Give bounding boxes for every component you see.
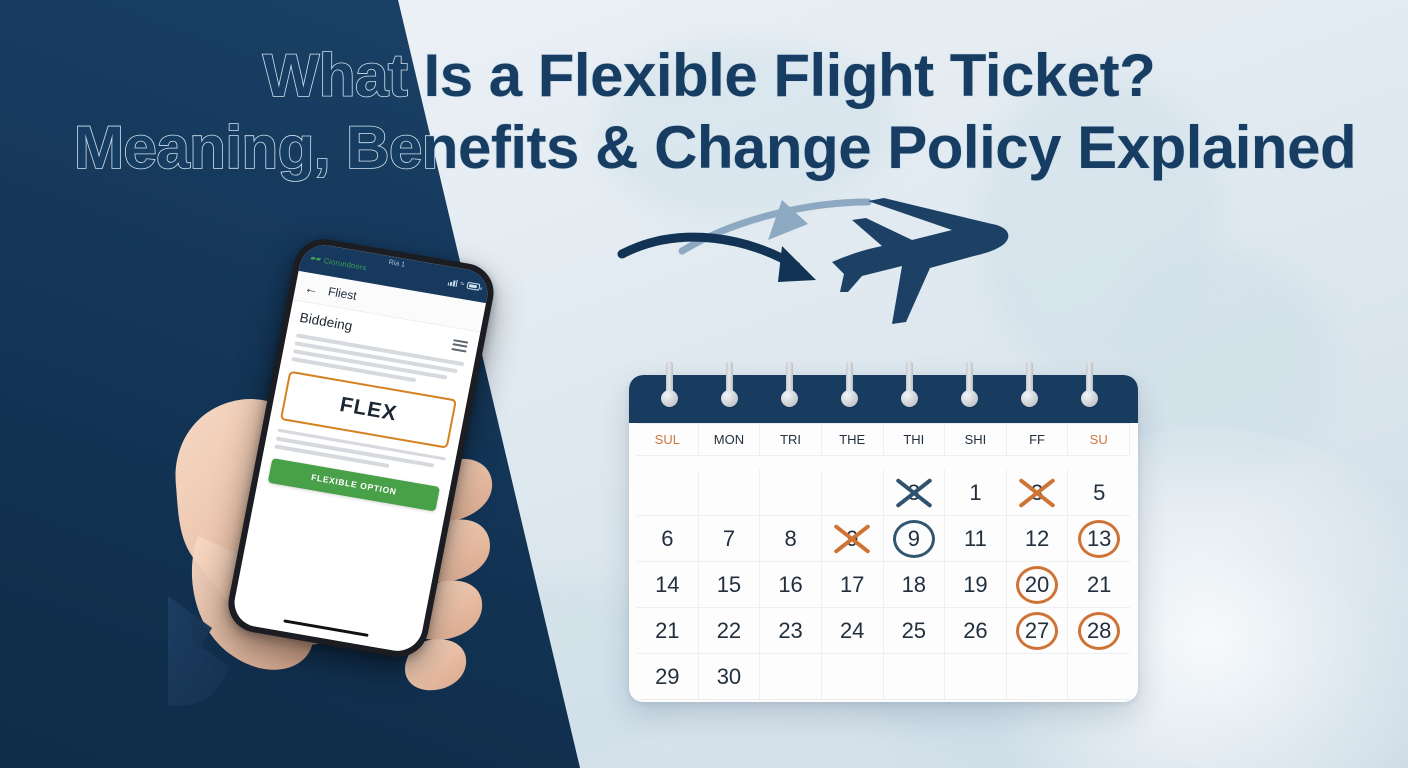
status-time: Ria 1 xyxy=(388,259,405,269)
calendar-empty-cell xyxy=(884,654,946,700)
calendar-date-number: 7 xyxy=(723,526,735,552)
battery-icon xyxy=(466,281,480,290)
calendar-date-cell[interactable]: 15 xyxy=(699,562,761,608)
airplane-graphic xyxy=(600,196,1020,326)
calendar-empty-cell xyxy=(1007,654,1069,700)
calendar-date-number: 24 xyxy=(840,618,864,644)
calendar-date-number: 20 xyxy=(1025,572,1049,598)
flexible-option-label: FLEXIBLE OPTION xyxy=(310,472,397,497)
calendar-header-bar xyxy=(629,375,1138,423)
calendar-date-number: 19 xyxy=(963,572,987,598)
calendar-date-cell[interactable]: 27 xyxy=(1007,608,1069,654)
calendar-date-cell[interactable]: 21 xyxy=(637,608,699,654)
calendar-date-number: 9 xyxy=(846,526,858,552)
phone-in-hand-illustration: ▰▰ Ciorundoors Ria 1 ≈ ← Fliest xyxy=(168,236,498,706)
calendar-date-cell[interactable]: 9 xyxy=(884,516,946,562)
signal-bars-icon: ▰▰ xyxy=(310,254,322,264)
flex-label: FLEX xyxy=(338,393,399,426)
calendar-date-number: 6 xyxy=(661,526,673,552)
airplane-icon xyxy=(832,198,1008,324)
calendar-date-cell[interactable]: 28 xyxy=(1068,608,1130,654)
calendar-date-cell[interactable]: 3 xyxy=(884,470,946,516)
headline-line-1: What Is a Flexible Flight Ticket? xyxy=(74,44,1344,108)
calendar-date-number: 22 xyxy=(717,618,741,644)
back-arrow-icon[interactable]: ← xyxy=(303,280,319,296)
calendar-date-cell[interactable]: 3 xyxy=(1007,470,1069,516)
calendar-date-cell[interactable]: 17 xyxy=(822,562,884,608)
calendar-date-cell[interactable]: 7 xyxy=(699,516,761,562)
calendar-date-number: 8 xyxy=(784,526,796,552)
calendar-date-cell[interactable]: 20 xyxy=(1007,562,1069,608)
headline-line-2: Meaning, Benefits & Change Policy Explai… xyxy=(74,116,1344,180)
calendar-date-number: 1 xyxy=(969,480,981,506)
calendar-empty-cell xyxy=(760,470,822,516)
curved-arrow-icon xyxy=(622,237,816,282)
calendar-date-number: 9 xyxy=(908,526,920,552)
calendar-date-cell[interactable]: 21 xyxy=(1068,562,1130,608)
calendar-date-number: 28 xyxy=(1087,618,1111,644)
calendar-empty-cell xyxy=(637,470,699,516)
calendar-date-number: 30 xyxy=(717,664,741,690)
calendar-date-cell[interactable]: 1 xyxy=(945,470,1007,516)
calendar-date-cell[interactable]: 8 xyxy=(760,516,822,562)
calendar-date-cell[interactable]: 13 xyxy=(1068,516,1130,562)
calendar-widget[interactable]: SULMONTRITHETHISHIFFSU313567899111213141… xyxy=(629,375,1138,702)
calendar-date-number: 27 xyxy=(1025,618,1049,644)
phone-nav-title: Fliest xyxy=(327,284,358,303)
calendar-date-cell[interactable]: 18 xyxy=(884,562,946,608)
calendar-empty-cell xyxy=(760,654,822,700)
calendar-date-cell[interactable]: 6 xyxy=(637,516,699,562)
calendar-date-number: 29 xyxy=(655,664,679,690)
calendar-date-cell[interactable]: 25 xyxy=(884,608,946,654)
calendar-day-header-the: THE xyxy=(822,424,884,456)
calendar-date-cell[interactable]: 23 xyxy=(760,608,822,654)
calendar-day-header-shi: SHI xyxy=(945,424,1007,456)
calendar-date-cell[interactable]: 29 xyxy=(637,654,699,700)
calendar-day-header-su: SU xyxy=(1068,424,1130,456)
wifi-icon: ≈ xyxy=(460,280,465,288)
calendar-day-header-ff: FF xyxy=(1007,424,1069,456)
calendar-date-cell[interactable]: 5 xyxy=(1068,470,1130,516)
calendar-date-cell[interactable]: 14 xyxy=(637,562,699,608)
calendar-date-cell[interactable]: 24 xyxy=(822,608,884,654)
calendar-empty-cell xyxy=(1068,654,1130,700)
hero-banner: What Is a Flexible Flight Ticket? Meanin… xyxy=(0,0,1408,768)
calendar-date-cell[interactable]: 30 xyxy=(699,654,761,700)
calendar-date-number: 23 xyxy=(778,618,802,644)
calendar-date-cell[interactable]: 16 xyxy=(760,562,822,608)
calendar-date-number: 21 xyxy=(655,618,679,644)
calendar-grid[interactable]: SULMONTRITHETHISHIFFSU313567899111213141… xyxy=(637,423,1130,700)
calendar-date-cell[interactable]: 12 xyxy=(1007,516,1069,562)
calendar-empty-cell xyxy=(822,654,884,700)
calendar-date-number: 26 xyxy=(963,618,987,644)
calendar-date-number: 3 xyxy=(908,480,920,506)
curved-arrow-icon xyxy=(682,200,868,251)
calendar-date-number: 15 xyxy=(717,572,741,598)
calendar-date-number: 25 xyxy=(902,618,926,644)
calendar-date-number: 17 xyxy=(840,572,864,598)
calendar-day-header-thi: THI xyxy=(884,424,946,456)
signal-bars-icon xyxy=(447,278,458,286)
calendar-day-header-tri: TRI xyxy=(760,424,822,456)
calendar-empty-cell xyxy=(699,470,761,516)
calendar-date-number: 3 xyxy=(1031,480,1043,506)
calendar-day-header-sul: SUL xyxy=(637,424,699,456)
calendar-date-number: 18 xyxy=(902,572,926,598)
page-title: What Is a Flexible Flight Ticket? Meanin… xyxy=(74,44,1344,180)
calendar-date-number: 16 xyxy=(778,572,802,598)
calendar-date-number: 5 xyxy=(1093,480,1105,506)
calendar-date-cell[interactable]: 9 xyxy=(822,516,884,562)
calendar-day-header-mon: MON xyxy=(699,424,761,456)
carrier-label: Ciorundoors xyxy=(323,256,367,272)
calendar-empty-cell xyxy=(945,654,1007,700)
calendar-date-number: 12 xyxy=(1025,526,1049,552)
calendar-date-number: 13 xyxy=(1087,526,1111,552)
calendar-date-cell[interactable]: 11 xyxy=(945,516,1007,562)
calendar-date-number: 11 xyxy=(964,526,987,552)
calendar-date-cell[interactable]: 22 xyxy=(699,608,761,654)
calendar-date-number: 14 xyxy=(655,572,679,598)
hamburger-menu-icon[interactable] xyxy=(451,336,468,352)
phone-section-heading: Biddeing xyxy=(298,310,353,334)
calendar-empty-cell xyxy=(822,470,884,516)
calendar-date-cell[interactable]: 26 xyxy=(945,608,1007,654)
calendar-date-number: 21 xyxy=(1087,572,1111,598)
calendar-date-cell[interactable]: 19 xyxy=(945,562,1007,608)
home-indicator xyxy=(283,619,368,637)
